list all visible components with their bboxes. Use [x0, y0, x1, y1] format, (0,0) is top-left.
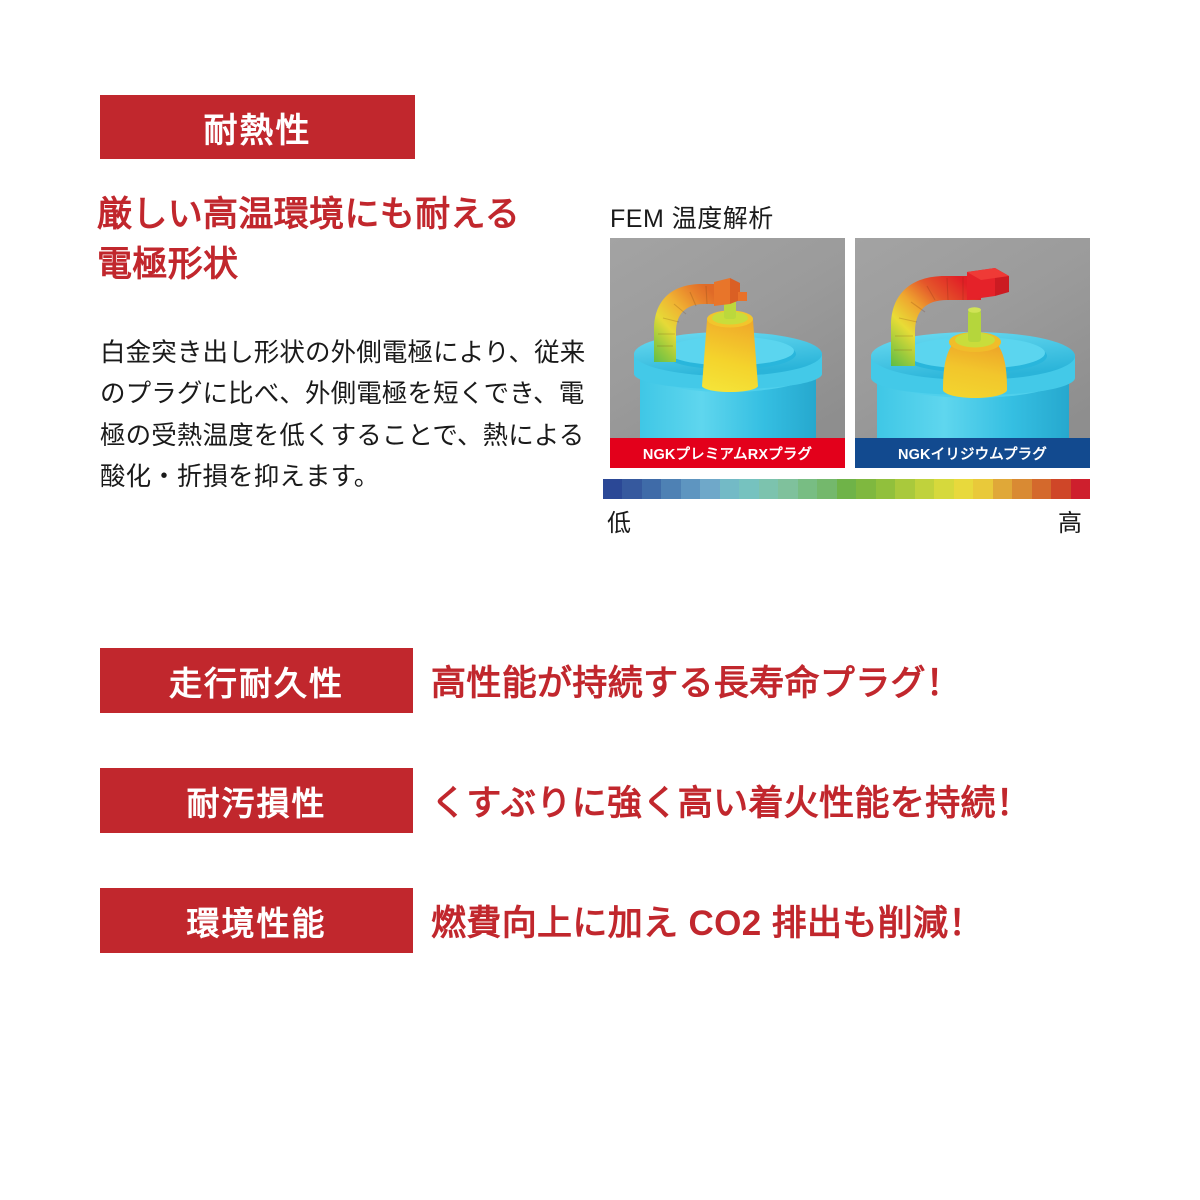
scale-segment-14 — [876, 479, 895, 499]
scale-segment-13 — [856, 479, 875, 499]
scale-segment-7 — [739, 479, 758, 499]
feature-text-fouling-resistance: くすぶりに強く高い着火性能を持続！ — [431, 775, 1031, 826]
fem-thermal-image-premium-rx — [610, 238, 845, 468]
section-badge-heat-resistance: 耐熱性 — [100, 95, 415, 159]
feature-badge-fouling-resistance: 耐汚損性 — [100, 768, 413, 833]
feature-text-durability: 高性能が持続する長寿命プラグ！ — [431, 655, 961, 706]
scale-segment-9 — [778, 479, 797, 499]
fem-caption-premium-rx: NGKプレミアムRXプラグ — [610, 438, 845, 468]
scale-segment-17 — [934, 479, 953, 499]
scale-segment-20 — [993, 479, 1012, 499]
feature-badge-label: 走行耐久性 — [169, 657, 344, 705]
feature-badge-label: 環境性能 — [187, 897, 327, 945]
feature-row-environmental: 環境性能 燃費向上に加え CO2 排出も削減！ — [100, 888, 1100, 953]
scale-segment-6 — [720, 479, 739, 499]
heat-body-text: 白金突き出し形状の外側電極により、従来のプラグに比べ、外側電極を短くでき、電極の… — [100, 333, 590, 498]
feature-list: 走行耐久性 高性能が持続する長寿命プラグ！ 耐汚損性 くすぶりに強く高い着火性能… — [100, 648, 1100, 953]
feature-badge-durability: 走行耐久性 — [100, 648, 413, 713]
scale-segment-16 — [915, 479, 934, 499]
fem-image-row: NGKプレミアムRXプラグ — [610, 238, 1090, 468]
scale-label-low: 低 — [607, 503, 631, 538]
fem-card-iridium: NGKイリジウムプラグ — [855, 238, 1090, 468]
scale-segment-19 — [973, 479, 992, 499]
promo-page: 耐熱性 厳しい高温環境にも耐える 電極形状 白金突き出し形状の外側電極により、従… — [0, 0, 1200, 1200]
feature-row-fouling-resistance: 耐汚損性 くすぶりに強く高い着火性能を持続！ — [100, 768, 1100, 833]
scale-segment-21 — [1012, 479, 1031, 499]
scale-segment-24 — [1071, 479, 1090, 499]
scale-segment-22 — [1032, 479, 1051, 499]
section-badge-label: 耐熱性 — [203, 103, 311, 152]
scale-segment-18 — [954, 479, 973, 499]
feature-badge-environmental: 環境性能 — [100, 888, 413, 953]
scale-segment-11 — [817, 479, 836, 499]
scale-segment-15 — [895, 479, 914, 499]
scale-segment-0 — [603, 479, 622, 499]
feature-row-durability: 走行耐久性 高性能が持続する長寿命プラグ！ — [100, 648, 1100, 713]
heat-subtitle: 厳しい高温環境にも耐える 電極形状 — [97, 190, 597, 289]
scale-segment-23 — [1051, 479, 1070, 499]
scale-segment-1 — [622, 479, 641, 499]
scale-segment-12 — [837, 479, 856, 499]
fem-caption-iridium: NGKイリジウムプラグ — [855, 438, 1090, 468]
feature-text-environmental: 燃費向上に加え CO2 排出も削減！ — [431, 895, 984, 946]
temperature-scale-bar — [603, 479, 1090, 499]
feature-badge-label: 耐汚損性 — [187, 777, 327, 825]
scale-label-high: 高 — [1058, 503, 1082, 538]
fem-analysis-title: FEM 温度解析 — [610, 199, 774, 235]
scale-segment-10 — [798, 479, 817, 499]
fem-thermal-image-iridium — [855, 238, 1090, 468]
scale-segment-4 — [681, 479, 700, 499]
scale-segment-8 — [759, 479, 778, 499]
scale-segment-5 — [700, 479, 719, 499]
scale-segment-3 — [661, 479, 680, 499]
fem-card-premium-rx: NGKプレミアムRXプラグ — [610, 238, 845, 468]
scale-segment-2 — [642, 479, 661, 499]
